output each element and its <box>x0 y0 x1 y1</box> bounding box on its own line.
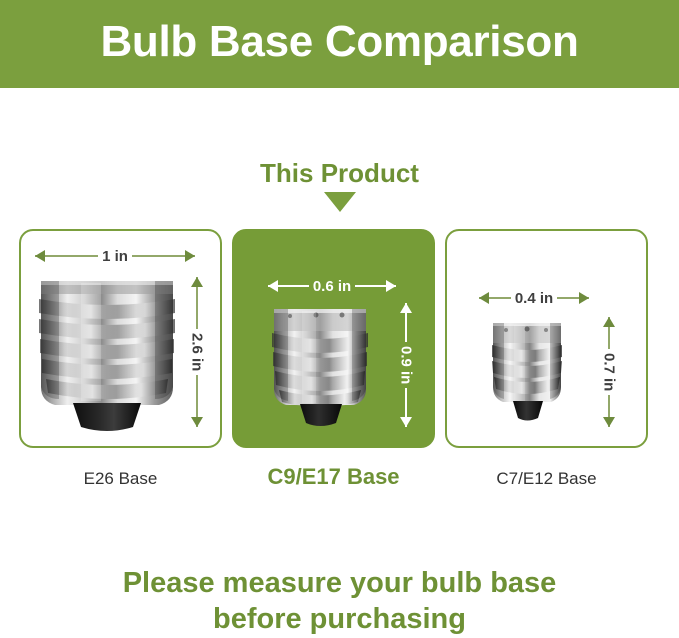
arrow-right-icon <box>132 255 195 257</box>
page-title: Bulb Base Comparison <box>100 20 578 68</box>
arrow-up-icon <box>608 317 610 349</box>
height-dimension-c7e12: 0.7 in <box>600 317 618 427</box>
bulb-base-image-c7e12 <box>488 319 566 423</box>
arrow-right-icon <box>557 297 589 299</box>
base-label-c9e17: C9/E17 Base <box>232 466 435 496</box>
arrow-down-icon <box>608 395 610 427</box>
base-label-e26: E26 Base <box>19 466 222 496</box>
arrow-down-icon <box>196 375 198 427</box>
width-dimension-e26: 1 in <box>35 247 195 265</box>
base-labels-row: E26 Base C9/E17 Base C7/E12 Base <box>19 466 660 496</box>
height-dimension-c9e17: 0.9 in <box>397 303 415 427</box>
triangle-down-icon <box>324 192 356 212</box>
bulb-panel-c7e12[interactable]: 0.4 in 0.7 in <box>445 229 648 448</box>
arrow-left-icon <box>479 297 511 299</box>
height-dimension-e26: 2.6 in <box>188 277 206 427</box>
bulb-panel-c9e17[interactable]: 0.6 in 0.9 in <box>232 229 435 448</box>
base-label-c7e12: C7/E12 Base <box>445 466 648 496</box>
arrow-right-icon <box>355 285 396 287</box>
arrow-up-icon <box>196 277 198 329</box>
bulb-base-image-e26 <box>33 275 181 433</box>
arrow-down-icon <box>405 388 407 427</box>
this-product-label: This Product <box>0 160 679 186</box>
arrow-up-icon <box>405 303 407 342</box>
bulb-comparison-panels: 1 in 2.6 in <box>19 229 660 448</box>
footer-note-line2: before purchasing <box>0 601 679 637</box>
bulb-panel-e26[interactable]: 1 in 2.6 in <box>19 229 222 448</box>
width-dimension-c7e12: 0.4 in <box>479 289 589 307</box>
width-dimension-label: 1 in <box>98 249 132 264</box>
this-product-callout: This Product <box>0 160 679 212</box>
height-dimension-label: 0.7 in <box>602 349 617 395</box>
width-dimension-label: 0.4 in <box>511 291 557 306</box>
footer-note-line1: Please measure your bulb base <box>0 565 679 601</box>
arrow-left-icon <box>35 255 98 257</box>
height-dimension-label: 0.9 in <box>399 342 414 388</box>
height-dimension-label: 2.6 in <box>190 329 205 375</box>
width-dimension-c9e17: 0.6 in <box>268 277 396 295</box>
bulb-base-image-c9e17 <box>268 305 372 429</box>
footer-note: Please measure your bulb base before pur… <box>0 565 679 638</box>
header-banner: Bulb Base Comparison <box>0 0 679 88</box>
width-dimension-label: 0.6 in <box>309 279 355 294</box>
arrow-left-icon <box>268 285 309 287</box>
